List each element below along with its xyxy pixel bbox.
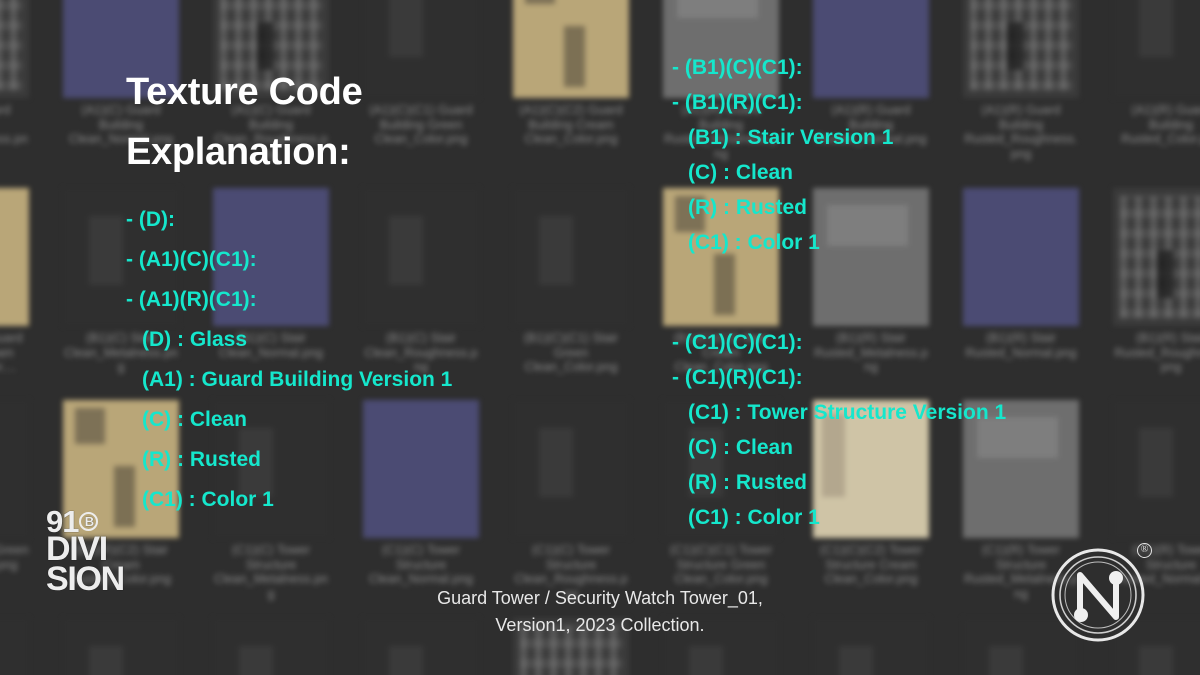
texture-code-definition: (R) : Rusted [672,465,1006,500]
logo-line-3: SION [46,565,156,595]
texture-code-entry: - (A1)(C)(C1): [126,240,452,280]
texture-code-entry: - (B1)(R)(C1): [672,85,893,120]
brand-logo-n-monogram: ® [1048,545,1148,645]
slide-foreground: Texture Code Explanation: - (D):- (A1)(C… [0,0,1200,675]
registered-trademark-icon: ® [1137,543,1152,558]
page-title: Texture Code Explanation: [126,62,556,182]
slide-caption: Guard Tower / Security Watch Tower_01, V… [380,585,820,639]
texture-code-definition: (C1) : Tower Structure Version 1 [672,395,1006,430]
caption-line-2: Version1, 2023 Collection. [380,612,820,639]
texture-code-entry: - (B1)(C)(C1): [672,50,893,85]
page-title-line-2: Explanation: [126,122,556,182]
texture-code-definition: (C1) : Color 1 [672,500,1006,535]
texture-code-definition: (C) : Clean [672,430,1006,465]
texture-code-definition: (R) : Rusted [126,440,452,480]
texture-code-entry: - (A1)(R)(C1): [126,280,452,320]
texture-code-definition: (D) : Glass [126,320,452,360]
texture-code-definition: (C) : Clean [672,155,893,190]
caption-line-1: Guard Tower / Security Watch Tower_01, [380,585,820,612]
page-title-line-1: Texture Code [126,62,556,122]
texture-code-definition: (B1) : Stair Version 1 [672,120,893,155]
texture-code-entry: - (C1)(C)(C1): [672,325,1006,360]
texture-code-definition: (R) : Rusted [672,190,893,225]
legend-block-stair: - (B1)(C)(C1):- (B1)(R)(C1):(B1) : Stair… [672,50,893,260]
n-monogram-icon [1048,545,1148,645]
texture-code-definition: (C) : Clean [126,400,452,440]
texture-code-entry: - (C1)(R)(C1): [672,360,1006,395]
texture-code-entry: - (D): [126,200,452,240]
texture-code-definition: (A1) : Guard Building Version 1 [126,360,452,400]
legend-block-tower-structure: - (C1)(C)(C1):- (C1)(R)(C1):(C1) : Tower… [672,325,1006,535]
legend-block-guard-building: - (D):- (A1)(C)(C1):- (A1)(R)(C1):(D) : … [126,200,452,520]
brand-logo-91-division: 91B DIVI SION [46,508,156,628]
texture-code-definition: (C1) : Color 1 [126,480,452,520]
logo-b-badge-icon: B [79,512,98,531]
texture-code-definition: (C1) : Color 1 [672,225,893,260]
